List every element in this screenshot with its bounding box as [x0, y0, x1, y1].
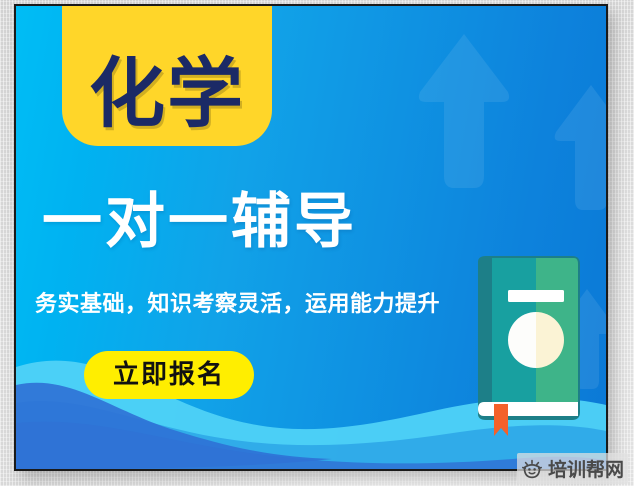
arrow-up-icon	[552, 82, 608, 212]
arrow-up-icon	[416, 30, 512, 190]
watermark: 培训帮网	[517, 453, 628, 484]
subject-badge-label: 化学	[89, 56, 245, 132]
promo-banner: 化学 一对一辅导 务实基础，知识考察灵活，运用能力提升 立即报名	[14, 4, 608, 471]
enroll-now-button[interactable]: 立即报名	[84, 351, 254, 399]
sun-face-icon	[521, 459, 543, 479]
subject-badge: 化学	[62, 4, 272, 146]
banner-subtitle: 务实基础，知识考察灵活，运用能力提升	[35, 294, 440, 316]
book-illustration	[460, 254, 588, 436]
page-background: 化学 一对一辅导 务实基础，知识考察灵活，运用能力提升 立即报名	[0, 0, 634, 486]
page-title: 一对一辅导	[42, 192, 357, 252]
watermark-text: 培训帮网	[548, 455, 624, 482]
